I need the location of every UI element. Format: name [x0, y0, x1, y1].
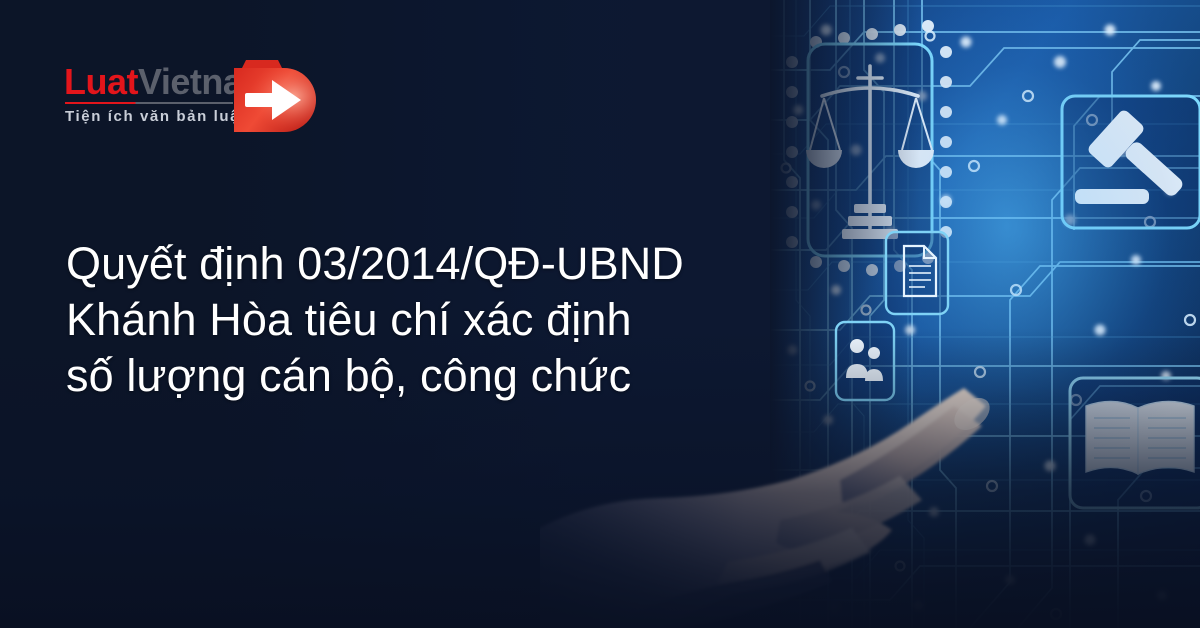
folder-arrow-icon [228, 52, 320, 138]
luatvietnam-logo[interactable]: LuatVietnam Tiện ích văn bản luật [60, 56, 320, 138]
gavel-icon [1062, 96, 1200, 228]
logo-tagline: Tiện ích văn bản luật [65, 108, 247, 125]
logo-word-luat: Luat [64, 61, 138, 102]
document-icon [886, 232, 948, 314]
headline-line-1: Quyết định 03/2014/QĐ-UBND [66, 236, 766, 292]
logo-underline [65, 102, 233, 104]
headline-line-3: số lượng cán bộ, công chức [66, 348, 766, 404]
headline-line-2: Khánh Hòa tiêu chí xác định [66, 292, 766, 348]
promo-banner: LuatVietnam Tiện ích văn bản luật [0, 0, 1200, 628]
open-book-icon [1070, 378, 1200, 508]
page-title: Quyết định 03/2014/QĐ-UBND Khánh Hòa tiê… [66, 236, 766, 404]
